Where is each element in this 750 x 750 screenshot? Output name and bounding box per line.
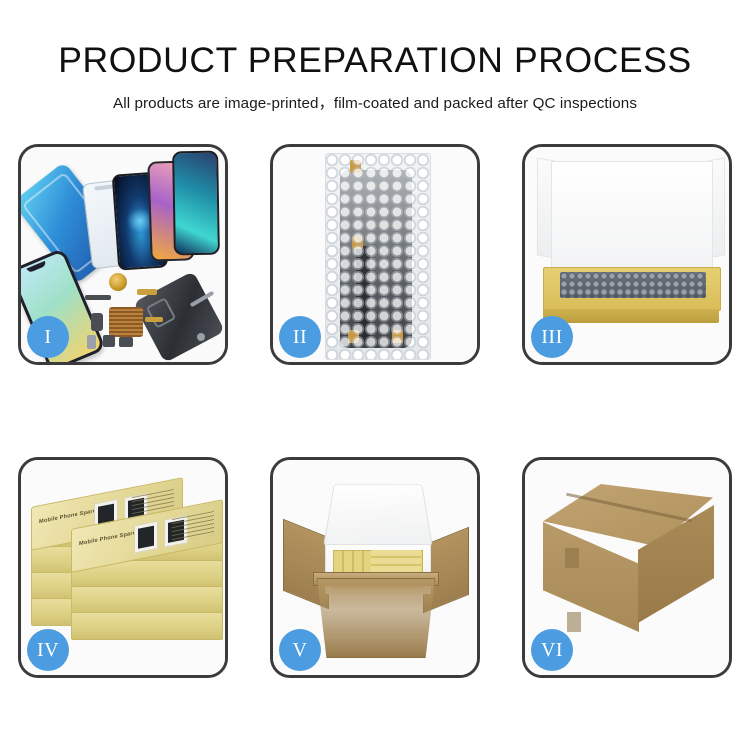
speaker-part-icon — [109, 273, 127, 291]
yellow-box-tray — [543, 267, 721, 311]
yellow-box-front-panel — [543, 309, 719, 323]
bubble-wrap-bag — [325, 153, 431, 360]
stacked-box-side-7 — [71, 586, 223, 614]
step-6-photo: VI — [525, 460, 729, 675]
spare-part-strip — [85, 295, 111, 300]
step-badge-1: I — [27, 316, 69, 358]
process-step-panel-3: III — [522, 144, 732, 365]
spare-part-chip — [103, 335, 115, 347]
step-badge-5: V — [279, 629, 321, 671]
process-step-panel-1: I — [18, 144, 228, 365]
carton-tape-upper — [565, 548, 579, 568]
spare-part-sim-tray — [87, 335, 96, 349]
tape-tab-bottom-right — [392, 330, 403, 343]
white-box-lid — [551, 161, 713, 273]
spare-part-connector — [119, 337, 133, 347]
step-badge-3: III — [531, 316, 573, 358]
process-step-panel-2: II — [270, 144, 480, 365]
step-badge-4: IV — [27, 629, 69, 671]
spare-part-camera — [91, 313, 103, 331]
wrapped-lcd-screen — [340, 170, 412, 348]
spare-part-screw-plate — [109, 307, 143, 337]
tape-tab-mid — [352, 236, 363, 249]
spare-part-gold-contact — [145, 317, 163, 322]
phone-display-teal — [172, 151, 220, 256]
process-step-grid: I II III — [18, 144, 737, 678]
carton-tape-lower — [567, 612, 581, 632]
step-5-photo: V — [273, 460, 477, 675]
page-header: PRODUCT PREPARATION PROCESS All products… — [0, 0, 750, 113]
carton-body — [317, 578, 435, 658]
foam-box-lid — [323, 484, 433, 546]
screen-flex-cable — [356, 246, 370, 342]
step-badge-2: II — [279, 316, 321, 358]
spare-part-gold-flex — [137, 289, 157, 295]
spare-part-screw — [197, 333, 205, 341]
step-badge-6: VI — [531, 629, 573, 671]
process-step-panel-4: Mobile Phone Spare Parts Mobile Phone Sp… — [18, 457, 228, 678]
bubble-wrapped-contents — [560, 272, 706, 298]
page-subtitle: All products are image-printed，film-coat… — [0, 79, 750, 113]
step-1-photo: I — [21, 147, 225, 362]
box-print-screen-front-1 — [134, 521, 158, 554]
page-title: PRODUCT PREPARATION PROCESS — [0, 0, 750, 79]
process-step-panel-6: VI — [522, 457, 732, 678]
process-step-panel-5: V — [270, 457, 480, 678]
stacked-box-side-8 — [71, 612, 223, 640]
step-4-photo: Mobile Phone Spare Parts Mobile Phone Sp… — [21, 460, 225, 675]
step-3-photo: III — [525, 147, 729, 362]
step-2-photo: II — [273, 147, 477, 362]
tape-tab-top — [350, 160, 361, 173]
tape-tab-bottom-left — [348, 330, 359, 343]
